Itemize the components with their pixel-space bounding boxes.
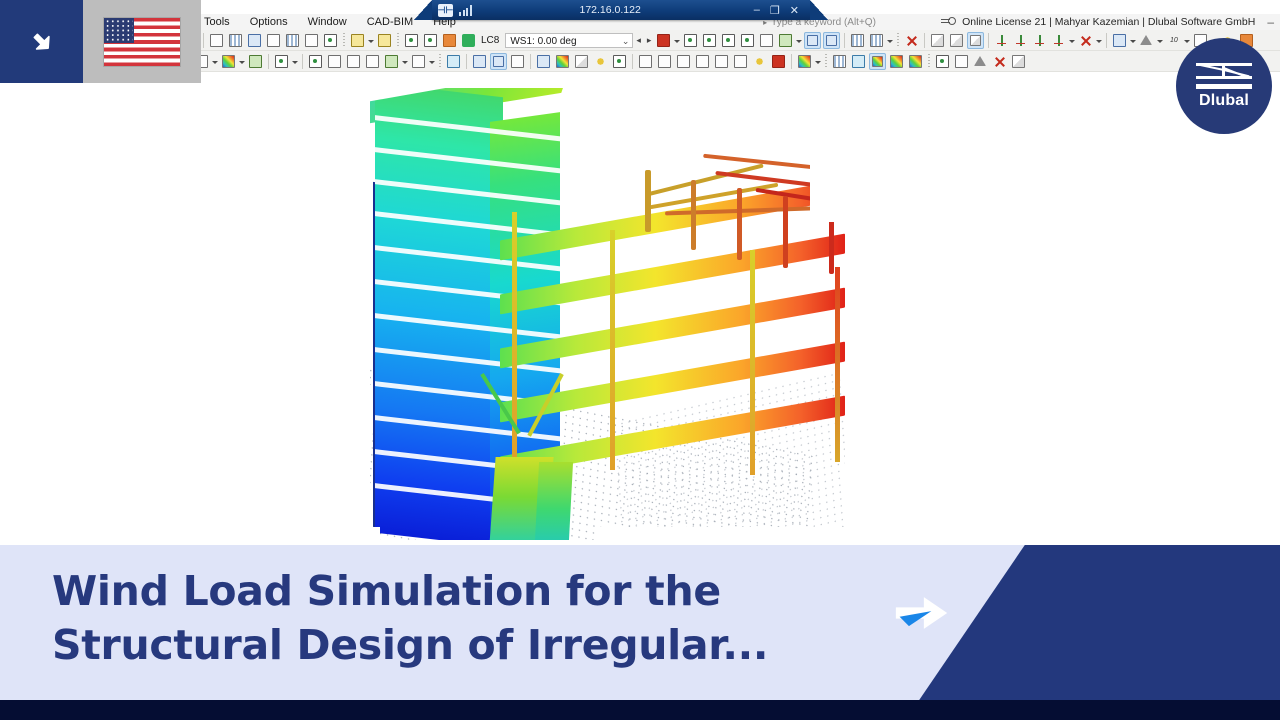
wind-load-fe-result-model bbox=[190, 72, 1280, 545]
toolbar-separator bbox=[844, 33, 845, 48]
magic-wand-icon[interactable] bbox=[751, 53, 768, 70]
wireframe-icon[interactable] bbox=[967, 32, 984, 49]
page-title: Wind Load Simulation for the Structural … bbox=[52, 564, 812, 672]
window-minimize-button[interactable]: – bbox=[1263, 15, 1274, 29]
dimension-caret-icon[interactable] bbox=[886, 32, 893, 49]
wind-direction-value: WS1: 0.00 deg bbox=[510, 36, 576, 47]
toolbar-separator bbox=[302, 54, 303, 69]
dimension-icon[interactable] bbox=[868, 32, 885, 49]
member-set-icon[interactable] bbox=[345, 53, 362, 70]
print-icon[interactable] bbox=[284, 32, 301, 49]
play-arrow-icon bbox=[894, 594, 950, 632]
signal-strength-icon bbox=[459, 5, 472, 16]
toolbar-grip bbox=[825, 54, 827, 69]
dlubal-wordmark: Dlubal bbox=[1199, 92, 1249, 110]
axis-caret-icon[interactable] bbox=[1068, 32, 1075, 49]
view-cube-icon[interactable] bbox=[929, 32, 946, 49]
select-objects-caret-icon[interactable] bbox=[211, 53, 218, 70]
contour-icon[interactable] bbox=[554, 53, 571, 70]
wing-column bbox=[750, 250, 755, 475]
axis-y-icon[interactable] bbox=[1012, 32, 1029, 49]
wind-tunnel-icon[interactable] bbox=[509, 53, 526, 70]
funnel-filter-icon[interactable] bbox=[445, 53, 462, 70]
tower-edge-line bbox=[373, 182, 375, 527]
hide-objects-caret-icon[interactable] bbox=[1095, 32, 1102, 49]
delete-load-caret-icon[interactable] bbox=[673, 32, 680, 49]
menu-item-window[interactable]: Window bbox=[298, 14, 357, 30]
toolbar-grip bbox=[439, 54, 441, 69]
toolbar-grip bbox=[897, 33, 899, 48]
chevron-down-icon: ⌄ bbox=[622, 34, 630, 49]
section-caret-icon[interactable] bbox=[401, 53, 408, 70]
line-support-icon[interactable] bbox=[701, 32, 718, 49]
toolbar-separator bbox=[924, 33, 925, 48]
result-stress-icon[interactable] bbox=[907, 53, 924, 70]
secondary-toolbar bbox=[190, 51, 1280, 72]
edit-mode-caret-icon[interactable] bbox=[367, 32, 374, 49]
axis-z-icon[interactable] bbox=[1031, 32, 1048, 49]
pin-icon[interactable] bbox=[770, 53, 787, 70]
layers-caret-icon[interactable] bbox=[1129, 32, 1136, 49]
axis-iso-icon[interactable] bbox=[1050, 32, 1067, 49]
line-tool-icon[interactable] bbox=[611, 53, 628, 70]
node-snap-icon[interactable] bbox=[273, 53, 290, 70]
scale-factor-label: 10 bbox=[1167, 34, 1180, 47]
result-deform-icon[interactable] bbox=[804, 32, 821, 49]
result-deform-icon[interactable] bbox=[869, 53, 886, 70]
remote-restore-button[interactable]: ❐ bbox=[765, 4, 785, 17]
color-scale-icon[interactable] bbox=[796, 53, 813, 70]
line-snap-icon[interactable] bbox=[307, 53, 324, 70]
remote-minimize-button[interactable]: – bbox=[749, 4, 765, 16]
screenshot-root: Tools Options Window CAD-BIM Help ▸ Type… bbox=[0, 0, 1280, 720]
model-data-icon[interactable] bbox=[376, 32, 393, 49]
scale-factor-caret-icon[interactable] bbox=[1183, 32, 1190, 49]
align-middle-icon[interactable] bbox=[675, 53, 692, 70]
remote-host-label: 172.16.0.122 bbox=[472, 4, 749, 16]
toolbar-separator bbox=[791, 54, 792, 69]
toolbar-separator bbox=[988, 33, 989, 48]
delete-icon[interactable] bbox=[903, 32, 920, 49]
primary-toolbar: LC8 WS1: 0.00 deg ⌄ ◂ ▸ bbox=[190, 30, 1280, 51]
color-scale-caret-icon[interactable] bbox=[814, 53, 821, 70]
keyword-search-icon bbox=[941, 17, 954, 28]
toolbar-grip bbox=[397, 33, 399, 48]
toolbar-separator bbox=[466, 54, 467, 69]
toolbar-grip bbox=[343, 33, 345, 48]
node-icon[interactable] bbox=[403, 32, 420, 49]
mirror-icon[interactable] bbox=[713, 53, 730, 70]
delete-load-icon[interactable] bbox=[655, 32, 672, 49]
camera-box-icon[interactable] bbox=[573, 53, 590, 70]
offset-icon[interactable] bbox=[471, 53, 488, 70]
top-right-status: ▸ Type a keyword (Alt+Q) Online License … bbox=[763, 14, 1274, 30]
render-icon[interactable] bbox=[948, 32, 965, 49]
result-force-icon[interactable] bbox=[888, 53, 905, 70]
globe-icon[interactable] bbox=[322, 32, 339, 49]
load-case-label: LC8 bbox=[478, 35, 505, 46]
surface-icon[interactable] bbox=[364, 53, 381, 70]
wing-column bbox=[610, 230, 615, 470]
grid-settings-icon[interactable] bbox=[831, 53, 848, 70]
line-style-caret-icon[interactable] bbox=[1156, 32, 1163, 49]
menu-item-options[interactable]: Options bbox=[240, 14, 298, 30]
angle-icon[interactable] bbox=[732, 53, 749, 70]
toolbar-separator bbox=[1106, 33, 1107, 48]
tables-icon[interactable] bbox=[227, 32, 244, 49]
us-flag-icon bbox=[104, 18, 180, 66]
cantilever-wing bbox=[500, 192, 845, 452]
arrow-down-right-icon bbox=[23, 23, 60, 60]
align-top-icon[interactable] bbox=[656, 53, 673, 70]
deformation-icon[interactable] bbox=[535, 53, 552, 70]
nodal-support-icon[interactable] bbox=[682, 32, 699, 49]
measure-icon[interactable] bbox=[637, 53, 654, 70]
select-colors-caret-icon[interactable] bbox=[238, 53, 245, 70]
footer-bar bbox=[0, 700, 1280, 720]
line-icon[interactable] bbox=[422, 32, 439, 49]
gift-box-icon[interactable] bbox=[777, 32, 794, 49]
remote-close-button[interactable]: ✕ bbox=[785, 4, 804, 17]
layers-icon[interactable] bbox=[1111, 32, 1128, 49]
model-viewport[interactable] bbox=[190, 72, 1280, 545]
result-force-icon[interactable] bbox=[823, 32, 840, 49]
surface-release-icon[interactable] bbox=[739, 32, 756, 49]
toolbar-grip bbox=[928, 54, 930, 69]
scale-factor-icon[interactable]: 10 bbox=[1165, 32, 1182, 49]
remote-desktop-connection-bar[interactable]: ⊣⊢ 172.16.0.122 – ❐ ✕ bbox=[432, 0, 810, 20]
hide-objects-icon[interactable] bbox=[1077, 32, 1094, 49]
frame-icon[interactable] bbox=[490, 53, 507, 70]
toolbar-separator bbox=[203, 33, 204, 48]
printout-report-icon[interactable] bbox=[265, 32, 282, 49]
node-snap-caret-icon[interactable] bbox=[291, 53, 298, 70]
member-hinge-icon[interactable] bbox=[720, 32, 737, 49]
gear-icon[interactable] bbox=[850, 53, 867, 70]
gift-box-caret-icon[interactable] bbox=[795, 32, 802, 49]
save-model-icon[interactable] bbox=[303, 32, 320, 49]
align-bottom-icon[interactable] bbox=[694, 53, 711, 70]
wind-direction-select[interactable]: WS1: 0.00 deg ⌄ bbox=[505, 33, 633, 48]
material-icon[interactable] bbox=[410, 53, 427, 70]
truss-frame-icon bbox=[1196, 63, 1252, 89]
solid-icon[interactable] bbox=[758, 32, 775, 49]
close-x-icon[interactable] bbox=[991, 53, 1008, 70]
capture-icon[interactable] bbox=[1010, 53, 1027, 70]
snap-points-icon[interactable] bbox=[592, 53, 609, 70]
edit-mode-icon[interactable] bbox=[349, 32, 366, 49]
orange-plane-icon[interactable] bbox=[441, 32, 458, 49]
toolbar-separator bbox=[530, 54, 531, 69]
mesh-icon[interactable] bbox=[849, 32, 866, 49]
material-caret-icon[interactable] bbox=[428, 53, 435, 70]
nav-prev-button[interactable]: ◂ bbox=[633, 35, 644, 46]
toolbar-separator bbox=[632, 54, 633, 69]
info-icon[interactable] bbox=[934, 53, 951, 70]
warning-icon[interactable] bbox=[972, 53, 989, 70]
arrow-badge bbox=[0, 0, 83, 83]
language-flag-badge bbox=[83, 0, 201, 83]
new-model-icon[interactable] bbox=[208, 32, 225, 49]
axis-x-icon[interactable] bbox=[993, 32, 1010, 49]
gift-box-icon[interactable] bbox=[247, 53, 264, 70]
nav-next-button[interactable]: ▸ bbox=[644, 35, 655, 46]
member-icon[interactable] bbox=[326, 53, 343, 70]
section-icon[interactable] bbox=[383, 53, 400, 70]
circle-tool-icon[interactable] bbox=[953, 53, 970, 70]
dlubal-logo: Dlubal bbox=[1176, 38, 1272, 134]
load-case-tag[interactable] bbox=[460, 32, 477, 49]
pin-icon[interactable]: ⊣⊢ bbox=[438, 4, 453, 17]
toolbar-separator bbox=[268, 54, 269, 69]
select-colors-icon[interactable] bbox=[220, 53, 237, 70]
rfem-application-window: Tools Options Window CAD-BIM Help ▸ Type… bbox=[190, 0, 1280, 545]
line-style-icon[interactable] bbox=[1138, 32, 1155, 49]
wing-column bbox=[835, 267, 840, 462]
open-model-icon[interactable] bbox=[246, 32, 263, 49]
license-status-label: Online License 21 | Mahyar Kazemian | Dl… bbox=[962, 16, 1255, 28]
